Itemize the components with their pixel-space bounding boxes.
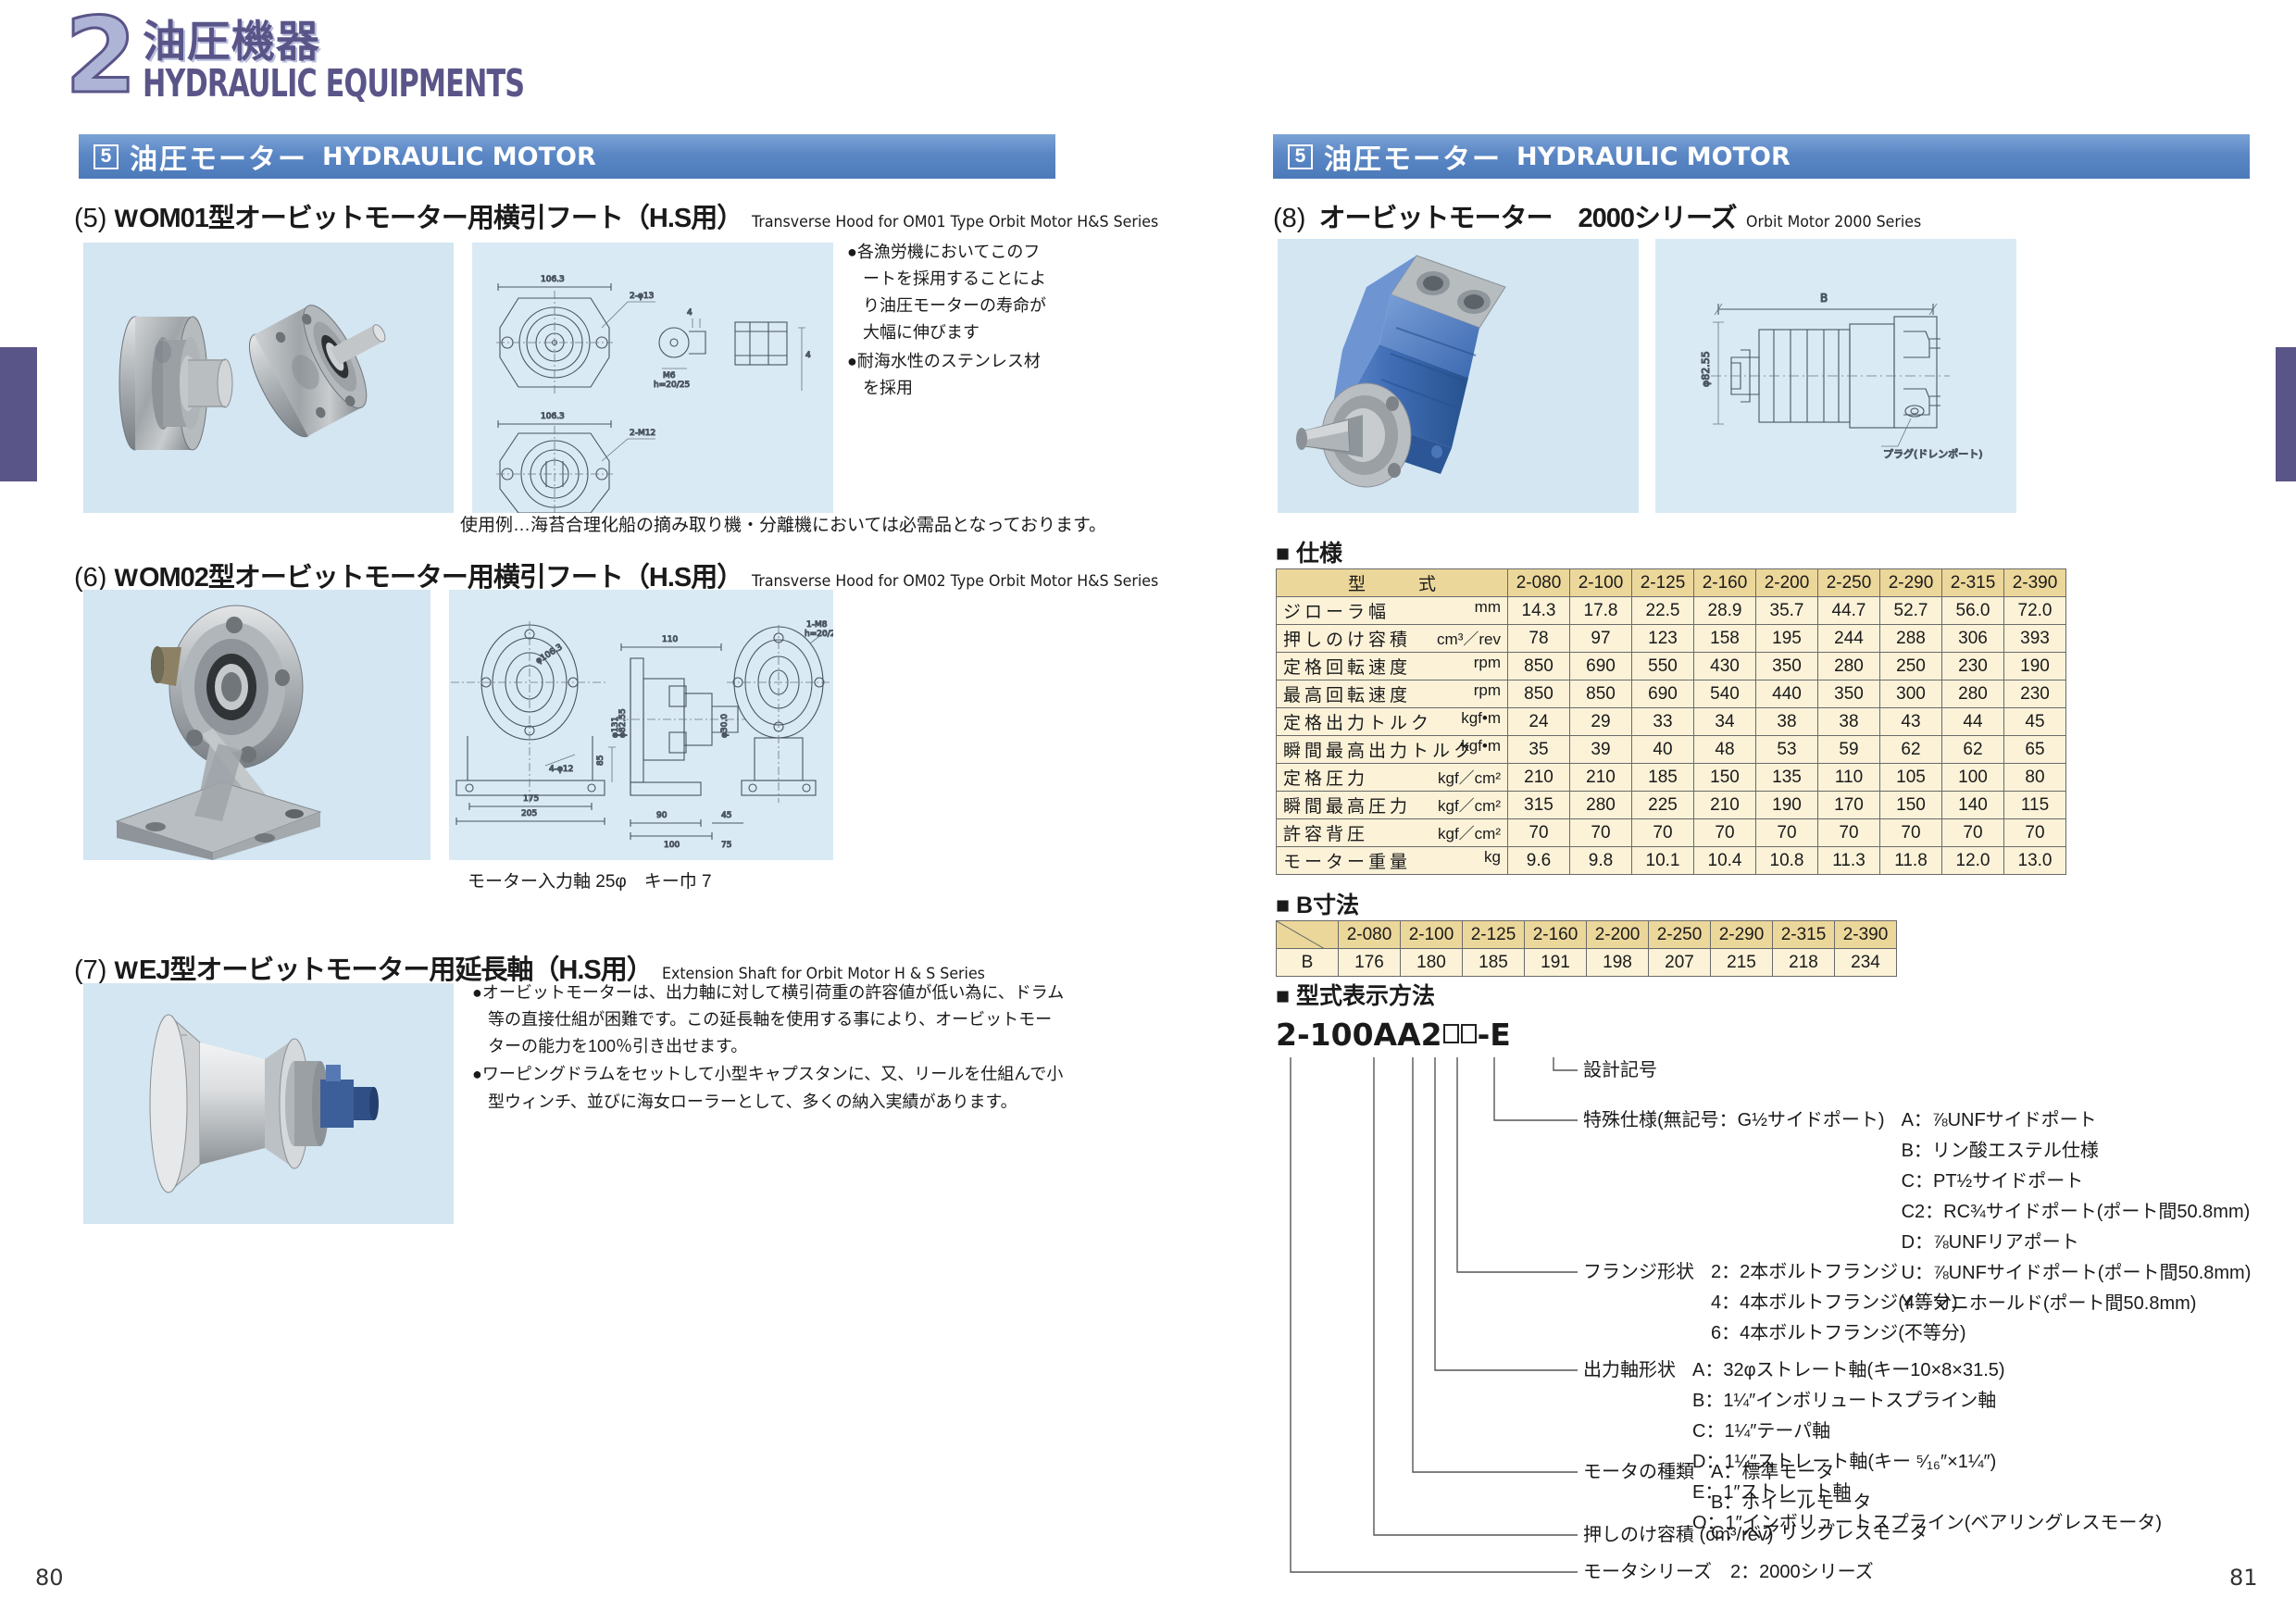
model-code-option: D：⅞UNFリアポート	[1902, 1233, 2252, 1252]
side-tab-left	[0, 347, 37, 481]
spec-cell: 70	[1508, 819, 1570, 847]
spec-cell: 110	[1818, 764, 1880, 792]
catalog-spread: 2 油圧機器 HYDRAULIC EQUIPMENTS 5 油圧モーター HYD…	[0, 0, 2296, 1623]
spec-cell: 70	[1570, 819, 1632, 847]
banner-title-en: HYDRAULIC MOTOR	[322, 143, 596, 171]
spec-row-label: rpm最高回転速度	[1277, 680, 1508, 708]
model-code-diagram: 2-100AA2-E 設計記号特殊仕様(無記号：G½サイドポート)A：⅞UNFサ…	[1276, 1017, 2257, 1609]
bullet-item: ●ワーピングドラムをセットして小型キャプスタンに、又、リールを仕組んで小型ウィン…	[472, 1061, 1065, 1115]
svg-text:h=20/25: h=20/25	[805, 630, 833, 639]
spec-cell: 9.6	[1508, 847, 1570, 875]
spec-cell: 43	[1880, 708, 1942, 736]
spec-cell: 195	[1756, 625, 1818, 653]
spec-cell: 35	[1508, 736, 1570, 764]
spec-cell: 850	[1508, 680, 1570, 708]
spec-col-header: 2-390	[2004, 569, 2066, 597]
spec-cell: 190	[1756, 792, 1818, 819]
chapter-title-en: HYDRAULIC EQUIPMENTS	[143, 64, 524, 104]
model-code-term: モータの種類	[1583, 1463, 1694, 1481]
spec-row-label: cm³／rev押しのけ容積	[1277, 625, 1508, 653]
spec-col-header: 2-315	[1942, 569, 2004, 597]
svg-text:プラグ(ドレンポート): プラグ(ドレンポート)	[1883, 447, 1983, 460]
bdim-table: 2-080 2-100 2-125 2-160 2-200 2-250 2-29…	[1276, 920, 1897, 977]
brand-mark-icon: W	[114, 205, 136, 233]
spec-cell: 690	[1632, 680, 1694, 708]
spec-cell: 306	[1942, 625, 2004, 653]
spec-cell: 190	[2004, 653, 2066, 680]
spec-cell: 70	[1880, 819, 1942, 847]
model-code-option: B：リン酸エステル仕様	[1902, 1142, 2252, 1160]
spec-cell: 65	[2004, 736, 2066, 764]
model-code-term: 特殊仕様(無記号：G½サイドポート)	[1583, 1111, 1885, 1130]
spec-cell: 80	[2004, 764, 2066, 792]
svg-text:φ30.0: φ30.0	[720, 714, 730, 738]
svg-text:h=20/25: h=20/25	[654, 381, 690, 390]
spec-cell: 39	[1570, 736, 1632, 764]
chapter-number: 2	[65, 13, 133, 100]
spec-cell: 280	[1942, 680, 2004, 708]
banner-title-jp: 油圧モーター	[1324, 136, 1502, 177]
spec-row: kgf／cm²定格圧力21021018515013511010510080	[1277, 764, 2066, 792]
spec-cell: 70	[1694, 819, 1756, 847]
spec-cell: 13.0	[2004, 847, 2066, 875]
spec-cell: 22.5	[1632, 597, 1694, 625]
note-section-6: モーター入力軸 25φ キー巾 7	[468, 868, 712, 895]
spec-cell: 70	[1942, 819, 2004, 847]
model-code-term: フランジ形状	[1583, 1263, 1694, 1281]
brand-mark-icon: W	[114, 956, 136, 985]
photo-ej-extension-shaft	[83, 983, 454, 1224]
chapter-title-jp: 油圧機器	[143, 19, 608, 64]
spec-cell: 140	[1942, 792, 2004, 819]
spec-cell: 52.7	[1880, 597, 1942, 625]
spec-row: kgモーター重量9.69.810.110.410.811.311.812.013…	[1277, 847, 2066, 875]
spec-cell: 185	[1632, 764, 1694, 792]
spec-cell: 70	[1818, 819, 1880, 847]
spec-cell: 210	[1694, 792, 1756, 819]
spec-row: kgf•m瞬間最高出力トルク353940485359626265	[1277, 736, 2066, 764]
bdim-cell: 176	[1339, 949, 1401, 977]
subsection-title-en: Transverse Hood for OM01 Type Orbit Moto…	[752, 213, 1158, 231]
model-code-option: 4：4本ボルトフランジ(4等分)	[1711, 1293, 1966, 1312]
model-code-term: モータシリーズ 2：2000シリーズ	[1583, 1563, 1874, 1581]
section-banner-left: 5 油圧モーター HYDRAULIC MOTOR	[79, 134, 1055, 179]
spec-cell: 690	[1570, 653, 1632, 680]
spec-row-label: kgf•m定格出力トルク	[1277, 708, 1508, 736]
spec-table-header-row: 型 式 2-080 2-100 2-125 2-160 2-200 2-250 …	[1277, 569, 2066, 597]
spec-cell: 350	[1756, 653, 1818, 680]
bdim-cell: 180	[1401, 949, 1463, 977]
bullet-item: ●オービットモーターは、出力軸に対して横引荷重の許容値が低い為に、ドラム等の直接…	[472, 980, 1065, 1060]
photo-orbit-motor-2000	[1278, 239, 1639, 513]
banner-number: 5	[1288, 144, 1313, 169]
spec-cell: 11.8	[1880, 847, 1942, 875]
spec-cell: 150	[1880, 792, 1942, 819]
subsection-number: (7)	[74, 955, 106, 986]
spec-cell: 11.3	[1818, 847, 1880, 875]
spec-row: rpm定格回転速度850690550430350280250230190	[1277, 653, 2066, 680]
spec-row: kgf／cm²瞬間最高圧力315280225210190170150140115	[1277, 792, 2066, 819]
spec-cell: 135	[1756, 764, 1818, 792]
spec-row: rpm最高回転速度850850690540440350300280230	[1277, 680, 2066, 708]
bdim-cell: 215	[1711, 949, 1773, 977]
bdim-col-header: 2-200	[1587, 921, 1649, 949]
spec-cell: 45	[2004, 708, 2066, 736]
svg-text:75: 75	[721, 841, 731, 850]
svg-text:110: 110	[662, 635, 678, 644]
bullet-item: ●各漁労機においてこのフートを採用することにより油圧モーターの寿命が大幅に伸びま…	[847, 239, 1055, 347]
bdim-col-header: 2-250	[1649, 921, 1711, 949]
bullet-item: ●耐海水性のステンレス材を採用	[847, 348, 1055, 402]
spec-cell: 10.8	[1756, 847, 1818, 875]
spec-row-label: kgf／cm²瞬間最高圧力	[1277, 792, 1508, 819]
model-code-option: B：ホイールモータ	[1711, 1493, 1928, 1512]
spec-cell: 59	[1818, 736, 1880, 764]
bdim-col-header: 2-390	[1835, 921, 1897, 949]
spec-cell: 44.7	[1818, 597, 1880, 625]
spec-cell: 10.4	[1694, 847, 1756, 875]
spec-cell: 850	[1508, 653, 1570, 680]
brand-mark-icon: W	[114, 564, 136, 593]
bdim-cell: 185	[1463, 949, 1525, 977]
spec-row-label: rpm定格回転速度	[1277, 653, 1508, 680]
spec-col-header: 2-160	[1694, 569, 1756, 597]
code-placeholder-box	[1461, 1024, 1477, 1043]
spec-cell: 440	[1756, 680, 1818, 708]
spec-cell: 12.0	[1942, 847, 2004, 875]
bdim-corner-cell	[1277, 921, 1339, 949]
svg-text:205: 205	[521, 809, 537, 818]
spec-col-header: 2-200	[1756, 569, 1818, 597]
spec-cell: 105	[1880, 764, 1942, 792]
spec-cell: 9.8	[1570, 847, 1632, 875]
spec-cell: 62	[1942, 736, 2004, 764]
spec-cell: 540	[1694, 680, 1756, 708]
svg-text:4: 4	[687, 308, 693, 318]
model-code-group: 設計記号	[1583, 1061, 1657, 1080]
subsection-heading-8: (8) オービットモーター 2000シリーズ Orbit Motor 2000 …	[1273, 196, 1934, 235]
model-code-option: A：標準モータ	[1711, 1463, 1928, 1481]
svg-text:2-φ13: 2-φ13	[630, 292, 654, 301]
spec-cell: 280	[1818, 653, 1880, 680]
bullets-section-7: ●オービットモーターは、出力軸に対して横引荷重の許容値が低い為に、ドラム等の直接…	[472, 980, 1065, 1116]
spec-cell: 350	[1818, 680, 1880, 708]
spec-cell: 48	[1694, 736, 1756, 764]
svg-text:M6: M6	[663, 371, 676, 381]
svg-text:φ82.55: φ82.55	[1700, 351, 1712, 387]
bdim-cell: 207	[1649, 949, 1711, 977]
bdim-col-header: 2-125	[1463, 921, 1525, 949]
spec-cell: 38	[1756, 708, 1818, 736]
bdim-row: B 176 180 185 191 198 207 215 218 234	[1277, 949, 1897, 977]
spec-row: kgf•m定格出力トルク242933343838434445	[1277, 708, 2066, 736]
bullets-section-5: ●各漁労機においてこのフートを採用することにより油圧モーターの寿命が大幅に伸びま…	[847, 239, 1055, 402]
spec-cell: 393	[2004, 625, 2066, 653]
spec-cell: 24	[1508, 708, 1570, 736]
banner-number: 5	[94, 144, 119, 169]
side-tab-right	[2276, 347, 2296, 481]
svg-text:106.3: 106.3	[541, 412, 565, 421]
spec-cell: 10.1	[1632, 847, 1694, 875]
model-code-term: 設計記号	[1583, 1061, 1657, 1080]
model-code-string: 2-100AA2-E	[1276, 1017, 1511, 1053]
spec-cell: 170	[1818, 792, 1880, 819]
section-banner-right: 5 油圧モーター HYDRAULIC MOTOR	[1273, 134, 2250, 179]
spec-cell: 115	[2004, 792, 2066, 819]
photo-om01-hood	[83, 243, 454, 513]
model-code-option: A：32φストレート軸(キー10×8×31.5)	[1692, 1361, 2162, 1380]
spec-cell: 315	[1508, 792, 1570, 819]
model-code-option: C：1¼″テーパ軸	[1692, 1422, 2162, 1441]
spec-cell: 97	[1570, 625, 1632, 653]
spec-heading: ■ 仕様	[1276, 535, 1342, 568]
spec-col-header: 2-125	[1632, 569, 1694, 597]
subsection-heading-5: (5) W OM01型オービットモーター用横引フート（H.S用） Transve…	[74, 196, 1190, 235]
spec-header-label: 型 式	[1277, 569, 1508, 597]
spec-table: 型 式 2-080 2-100 2-125 2-160 2-200 2-250 …	[1276, 568, 2066, 875]
page-number-left: 80	[35, 1565, 64, 1591]
code-placeholder-box	[1443, 1024, 1459, 1043]
bdim-col-header: 2-160	[1525, 921, 1587, 949]
spec-cell: 158	[1694, 625, 1756, 653]
subsection-title-jp: オービットモーター 2000シリーズ	[1318, 196, 1736, 235]
spec-cell: 70	[1632, 819, 1694, 847]
spec-row-label: mmジローラ幅	[1277, 597, 1508, 625]
spec-cell: 28.9	[1694, 597, 1756, 625]
svg-text:100: 100	[664, 841, 680, 850]
spec-cell: 70	[2004, 819, 2066, 847]
spec-cell: 430	[1694, 653, 1756, 680]
subsection-title-jp: OM01型オービットモーター用横引フート（H.S用）	[139, 196, 742, 235]
svg-text:2-M12: 2-M12	[630, 429, 655, 438]
model-code-heading: ■ 型式表示方法	[1276, 978, 1435, 1011]
bdim-row-label: B	[1277, 949, 1339, 977]
drawing-orbit-motor-2000: B φ82.55 プラグ(ドレンポート)	[1655, 239, 2016, 513]
spec-cell: 44	[1942, 708, 2004, 736]
spec-cell: 288	[1880, 625, 1942, 653]
model-code-suffix: -E	[1478, 1017, 1511, 1053]
svg-text:175: 175	[523, 794, 539, 804]
spec-cell: 210	[1570, 764, 1632, 792]
svg-text:85: 85	[596, 755, 605, 766]
spec-row: kgf／cm²許容背圧707070707070707070	[1277, 819, 2066, 847]
model-code-group: フランジ形状2：2本ボルトフランジ4：4本ボルトフランジ(4等分)6：4本ボルト…	[1583, 1263, 1966, 1342]
spec-cell: 225	[1632, 792, 1694, 819]
subsection-heading-6: (6) W OM02型オービットモーター用横引フート（H.S用） Transve…	[74, 556, 1190, 594]
spec-cell: 230	[1942, 653, 2004, 680]
spec-cell: 35.7	[1756, 597, 1818, 625]
bdim-cell: 218	[1773, 949, 1835, 977]
model-code-option: B：1¼″インボリュートスプライン軸	[1692, 1392, 2162, 1410]
svg-text:φ131: φ131	[611, 717, 620, 738]
spec-cell: 40	[1632, 736, 1694, 764]
bdim-header-row: 2-080 2-100 2-125 2-160 2-200 2-250 2-29…	[1277, 921, 1897, 949]
spec-row-label: kgf／cm²許容背圧	[1277, 819, 1508, 847]
drawing-om01-hood: 106.3 2-φ13 4 M6 h=20/25	[472, 243, 833, 513]
spec-cell: 70	[1756, 819, 1818, 847]
spec-cell: 38	[1818, 708, 1880, 736]
bdim-col-header: 2-080	[1339, 921, 1401, 949]
spec-cell: 72.0	[2004, 597, 2066, 625]
model-code-option: 6：4本ボルトフランジ(不等分)	[1711, 1324, 1966, 1342]
svg-text:45: 45	[721, 811, 731, 820]
bdim-cell: 234	[1835, 949, 1897, 977]
spec-col-header: 2-250	[1818, 569, 1880, 597]
model-code-term: 出力軸形状	[1583, 1361, 1676, 1380]
spec-cell: 150	[1694, 764, 1756, 792]
bdim-col-header: 2-100	[1401, 921, 1463, 949]
spec-col-header: 2-290	[1880, 569, 1942, 597]
svg-text:106.3: 106.3	[541, 275, 565, 284]
page-number-right: 81	[2229, 1565, 2258, 1591]
spec-cell: 34	[1694, 708, 1756, 736]
bdim-col-header: 2-290	[1711, 921, 1773, 949]
subsection-title-en: Orbit Motor 2000 Series	[1746, 213, 1921, 231]
spec-cell: 53	[1756, 736, 1818, 764]
spec-cell: 250	[1880, 653, 1942, 680]
spec-cell: 550	[1632, 653, 1694, 680]
spec-cell: 210	[1508, 764, 1570, 792]
subsection-title-en: Transverse Hood for OM02 Type Orbit Moto…	[752, 572, 1158, 591]
spec-cell: 123	[1632, 625, 1694, 653]
spec-cell: 78	[1508, 625, 1570, 653]
spec-cell: 29	[1570, 708, 1632, 736]
svg-text:φ106.3: φ106.3	[534, 643, 564, 666]
model-code-option: C2：RC¾サイドポート(ポート間50.8mm)	[1902, 1203, 2252, 1221]
subsection-title-jp: OM02型オービットモーター用横引フート（H.S用）	[139, 556, 742, 594]
model-code-option: A：⅞UNFサイドポート	[1902, 1111, 2252, 1130]
spec-row: mmジローラ幅14.317.822.528.935.744.752.756.07…	[1277, 597, 2066, 625]
spec-cell: 280	[1570, 792, 1632, 819]
svg-text:4-φ12: 4-φ12	[549, 765, 573, 774]
subsection-number: (5)	[74, 204, 106, 234]
svg-text:B: B	[1820, 292, 1828, 305]
subsection-number: (8)	[1273, 204, 1305, 234]
banner-title-jp: 油圧モーター	[130, 136, 307, 177]
spec-row-label: kgf•m瞬間最高出力トルク	[1277, 736, 1508, 764]
spec-row: cm³／rev押しのけ容積7897123158195244288306393	[1277, 625, 2066, 653]
chapter-title: 2 油圧機器 HYDRAULIC EQUIPMENTS	[65, 13, 608, 104]
spec-cell: 17.8	[1570, 597, 1632, 625]
spec-col-header: 2-100	[1570, 569, 1632, 597]
spec-cell: 850	[1570, 680, 1632, 708]
model-code-group: 押しのけ容積 (cm³/rev)	[1583, 1526, 1774, 1544]
model-code-option: 2：2本ボルトフランジ	[1711, 1263, 1966, 1281]
model-code-option: C：PT½サイドポート	[1902, 1172, 2252, 1191]
bdim-cell: 191	[1525, 949, 1587, 977]
bdim-heading: ■ B寸法	[1276, 887, 1359, 920]
spec-cell: 33	[1632, 708, 1694, 736]
bdim-col-header: 2-315	[1773, 921, 1835, 949]
spec-row-label: kgf／cm²定格圧力	[1277, 764, 1508, 792]
spec-cell: 14.3	[1508, 597, 1570, 625]
spec-cell: 100	[1942, 764, 2004, 792]
bdim-cell: 198	[1587, 949, 1649, 977]
model-code-group: モータシリーズ 2：2000シリーズ	[1583, 1563, 1874, 1581]
footnote-section-5: 使用例…海苔合理化船の摘み取り機・分離機においては必需品となっております。	[460, 512, 1106, 539]
model-code-term: 押しのけ容積 (cm³/rev)	[1583, 1526, 1774, 1544]
photo-om02-hood	[83, 590, 430, 860]
model-code-prefix: 2-100AA2	[1276, 1017, 1442, 1053]
svg-text:1-M8: 1-M8	[806, 620, 828, 630]
spec-cell: 244	[1818, 625, 1880, 653]
svg-text:90: 90	[656, 811, 668, 820]
spec-cell: 300	[1880, 680, 1942, 708]
spec-cell: 230	[2004, 680, 2066, 708]
spec-row-label: kgモーター重量	[1277, 847, 1508, 875]
banner-title-en: HYDRAULIC MOTOR	[1516, 143, 1791, 171]
spec-cell: 56.0	[1942, 597, 2004, 625]
svg-text:4: 4	[805, 351, 811, 360]
spec-col-header: 2-080	[1508, 569, 1570, 597]
spec-cell: 62	[1880, 736, 1942, 764]
drawing-om02-hood: 205 175 4-φ12 φ106.3 110 φ82.55 φ131	[449, 590, 833, 860]
